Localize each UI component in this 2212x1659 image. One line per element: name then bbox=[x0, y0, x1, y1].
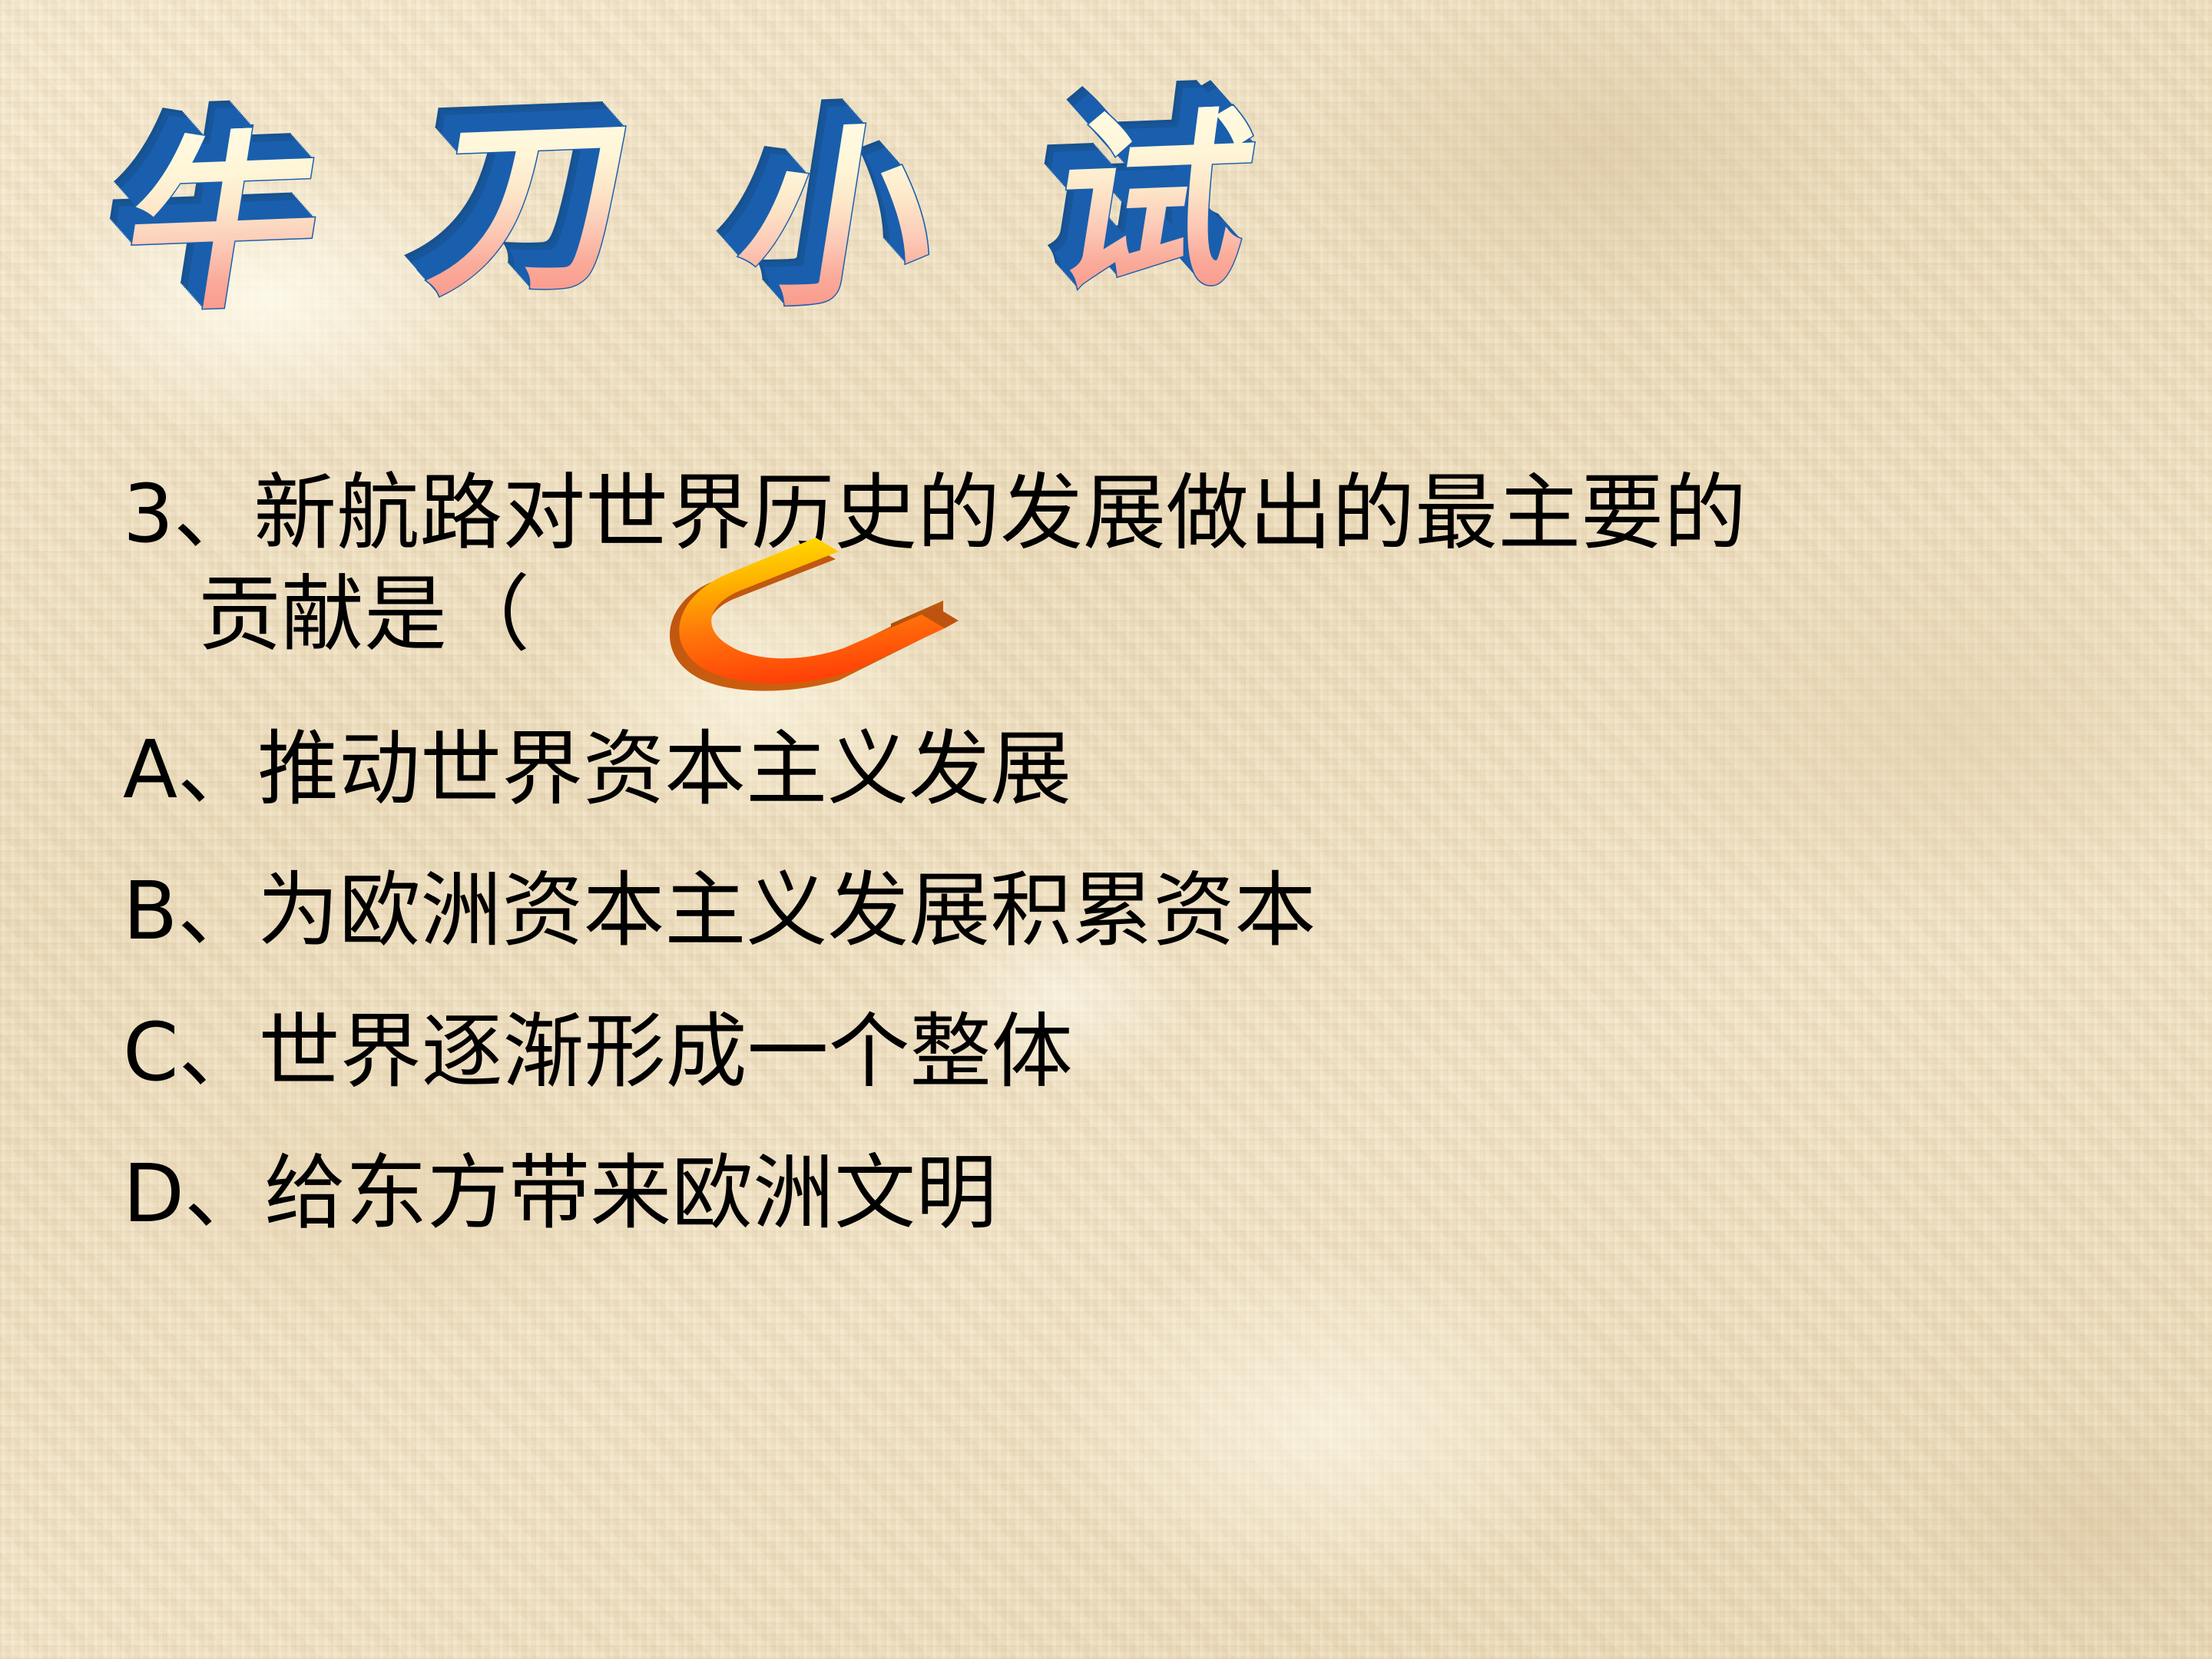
question-number: 3、 bbox=[123, 467, 253, 561]
question-line-1-text: 新航路对世界历史的发展做出的最主要的 bbox=[253, 465, 1747, 561]
wordart-char-2-face: 刀 bbox=[420, 108, 644, 306]
wordart-char-1-face: 牛 bbox=[113, 124, 336, 323]
option-c[interactable]: C、世界逐渐形成一个整体 bbox=[123, 1009, 2143, 1095]
wordart-char-4-face: 试 bbox=[1042, 104, 1266, 303]
slide-body: 3、新航路对世界历史的发展做出的最主要的 贡献是（ A、推动世界资本主义发展 B… bbox=[115, 469, 2143, 1237]
option-c-text: 世界逐渐形成一个整体 bbox=[259, 1005, 1073, 1099]
option-a-text: 推动世界资本主义发展 bbox=[257, 722, 1071, 816]
horseshoe-magnet-icon bbox=[637, 530, 960, 707]
magnet-top-face bbox=[679, 538, 945, 684]
option-c-letter: C、 bbox=[123, 1005, 259, 1099]
question-line-2-text: 贡献是（ bbox=[198, 567, 530, 663]
option-b-text: 为欧洲资本主义发展积累资本 bbox=[257, 863, 1316, 958]
horseshoe-magnet-svg bbox=[637, 530, 960, 707]
option-a[interactable]: A、推动世界资本主义发展 bbox=[123, 727, 2143, 813]
wordart-char-3-face: 小 bbox=[727, 120, 951, 319]
option-d-text: 给东方带来欧洲文明 bbox=[264, 1146, 997, 1240]
option-d[interactable]: D、给东方带来欧洲文明 bbox=[123, 1151, 2143, 1237]
slide-title-wordart: 牛 牛 刀 刀 小 小 试 试 bbox=[84, 91, 1452, 298]
option-d-letter: D、 bbox=[123, 1147, 264, 1240]
wordart-character-row: 牛 牛 刀 刀 小 小 试 试 bbox=[84, 91, 1452, 298]
slide-canvas: 牛 牛 刀 刀 小 小 试 试 3、新航路对世界历史的发展做出的最主要的 贡献是… bbox=[0, 0, 2212, 1659]
option-b[interactable]: B、为欧洲资本主义发展积累资本 bbox=[123, 868, 2143, 954]
option-b-letter: B、 bbox=[123, 864, 257, 958]
option-a-letter: A、 bbox=[123, 723, 257, 816]
question-line-1: 3、新航路对世界历史的发展做出的最主要的 bbox=[123, 469, 2143, 559]
question-line-2: 贡献是（ bbox=[198, 570, 2143, 661]
